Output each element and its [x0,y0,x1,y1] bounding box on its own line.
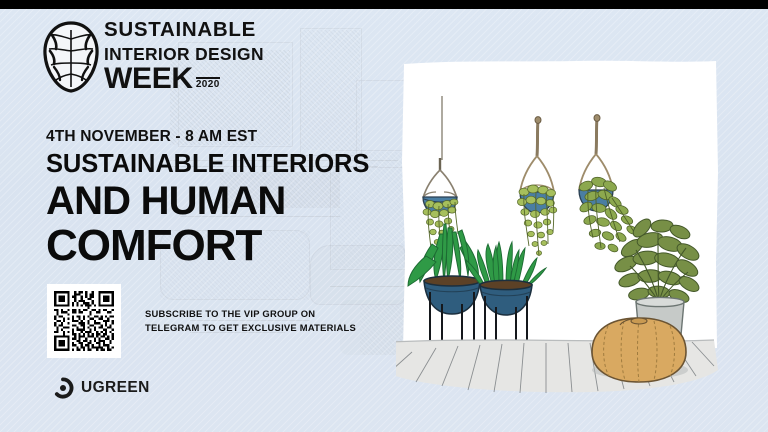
ugreen-wordmark: UGREEN [81,379,150,397]
subscribe-block: SUBSCRIBE TO THE VIP GROUP ON TELEGRAM T… [47,284,356,358]
event-date-time: 4TH NOVEMBER - 8 AM EST [46,128,369,145]
subscribe-line-1: SUBSCRIBE TO THE VIP GROUP ON [145,307,356,321]
subscribe-text: SUBSCRIBE TO THE VIP GROUP ON TELEGRAM T… [145,307,356,334]
logo-line-interior-design: INTERIOR DESIGN [104,46,274,63]
ugreen-brand: UGREEN [52,377,150,399]
event-logo: SUSTAINABLE INTERIOR DESIGN WEEK 2020 [42,18,272,98]
headline-line-2: AND HUMAN [46,181,369,223]
logo-line-sustainable: SUSTAINABLE [104,20,274,41]
qr-code-icon [52,289,116,353]
poster-canvas: SUSTAINABLE INTERIOR DESIGN WEEK 2020 4T… [0,0,768,432]
pouffe-ottoman [592,318,686,382]
qr-code[interactable] [47,284,121,358]
headline-line-1: SUSTAINABLE INTERIORS [46,151,369,179]
monstera-leaf-icon [42,21,100,93]
headline-line-3: COMFORT [46,223,369,269]
ugreen-ring-logo-icon [52,377,74,399]
logo-line-week: WEEK [104,65,193,94]
headline-block: 4TH NOVEMBER - 8 AM EST SUSTAINABLE INTE… [46,128,369,269]
logo-year: 2020 [196,80,220,90]
logo-wordmark: SUSTAINABLE INTERIOR DESIGN WEEK 2020 [104,20,274,94]
sustainable-interior-plants-illustration [396,52,768,400]
subscribe-line-2: TELEGRAM TO GET EXCLUSIVE MATERIALS [145,321,356,335]
top-black-bar [0,0,768,9]
logo-year-block: 2020 [196,77,220,90]
